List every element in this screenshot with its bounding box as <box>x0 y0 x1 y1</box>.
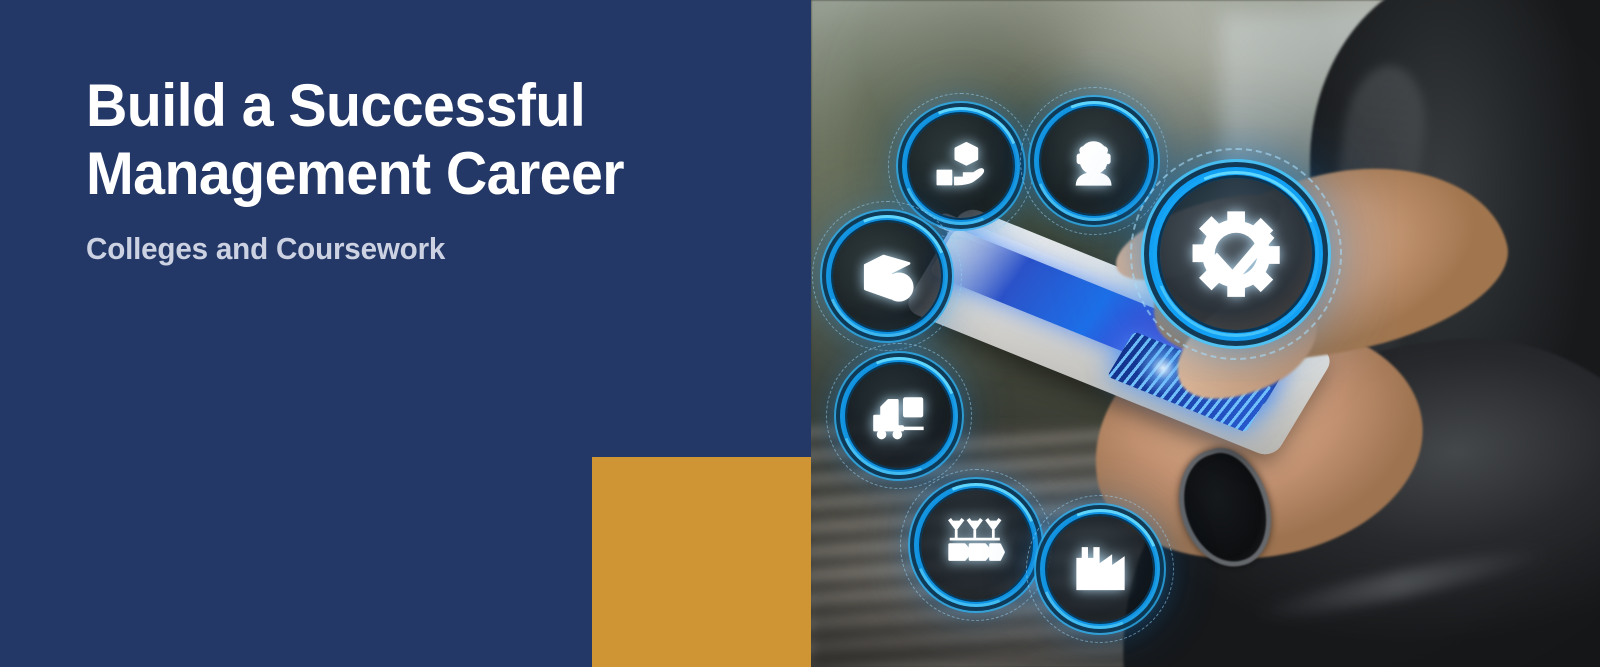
hero-photo <box>811 0 1600 667</box>
hand-holding-box-icon <box>909 114 1013 218</box>
process-flow-check-icon <box>921 490 1031 600</box>
gear-checkmark-icon <box>1160 178 1312 330</box>
customer-support-headset-icon <box>1041 108 1147 214</box>
package-exchange-icon <box>833 222 941 330</box>
page-title: Build a Successful Management Career <box>86 72 716 209</box>
promo-banner: Build a Successful Management Career Col… <box>0 0 1600 667</box>
hero-copy: Build a Successful Management Career Col… <box>86 72 746 267</box>
forklift-pallet-icon <box>847 364 951 468</box>
page-subtitle: Colleges and Coursework <box>86 231 716 267</box>
gold-accent-block <box>592 457 811 667</box>
left-text-panel: Build a Successful Management Career Col… <box>0 0 811 667</box>
factory-icon <box>1047 516 1153 622</box>
